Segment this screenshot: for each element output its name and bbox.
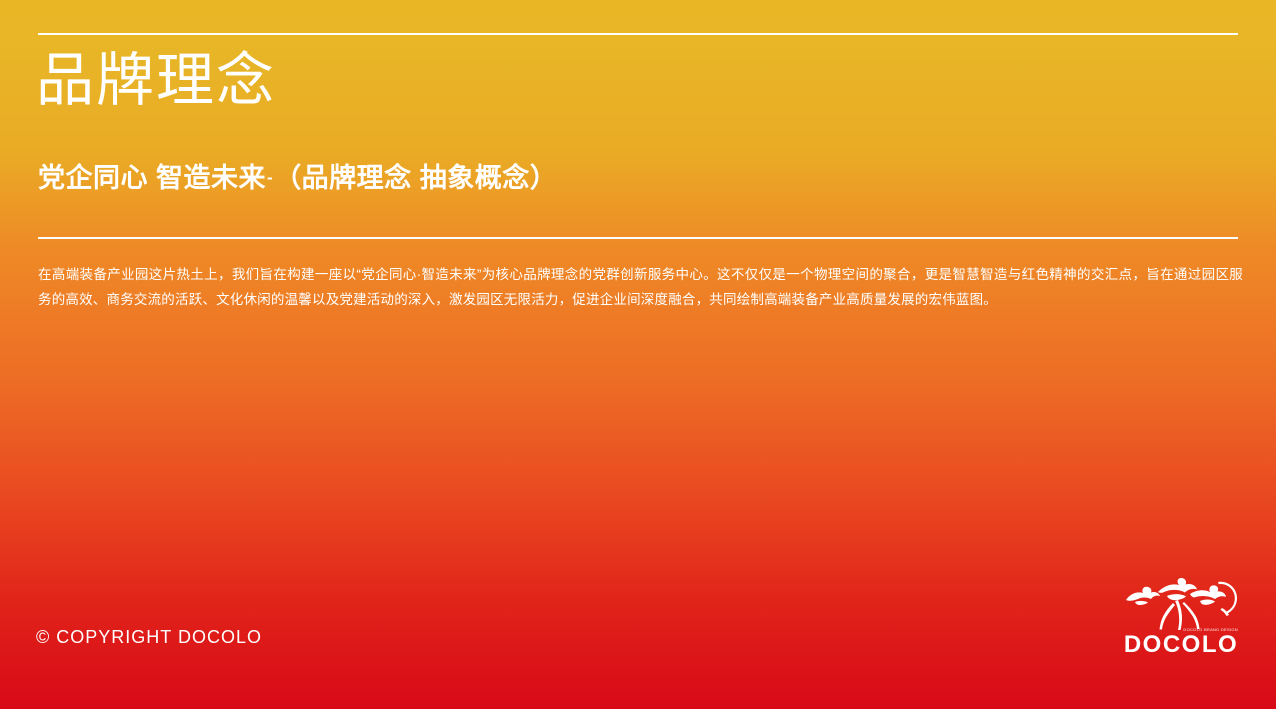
subtitle-dash: - bbox=[266, 168, 274, 187]
subtitle: 党企同心 智造未来-（品牌理念 抽象概念） bbox=[38, 160, 557, 196]
abstract-figure-mark-icon bbox=[1118, 576, 1244, 632]
brand-logo: DOCOLO BRAND DESIGN DOCOLO bbox=[1118, 576, 1244, 660]
body-divider-rule bbox=[38, 237, 1238, 239]
subtitle-parenthetical: （品牌理念 抽象概念） bbox=[274, 163, 557, 193]
page-title: 品牌理念 bbox=[36, 46, 276, 116]
copyright-notice: © COPYRIGHT DOCOLO bbox=[36, 625, 262, 649]
brand-wordmark: DOCOLO bbox=[1118, 632, 1244, 658]
body-paragraph: 在高端装备产业园这片热土上，我们旨在构建一座以“党企同心·智造未来”为核心品牌理… bbox=[38, 262, 1243, 312]
subtitle-main: 党企同心 智造未来 bbox=[38, 163, 266, 193]
top-divider-rule bbox=[38, 33, 1238, 35]
slide-canvas: 品牌理念 党企同心 智造未来-（品牌理念 抽象概念） 在高端装备产业园这片热土上… bbox=[0, 0, 1276, 709]
